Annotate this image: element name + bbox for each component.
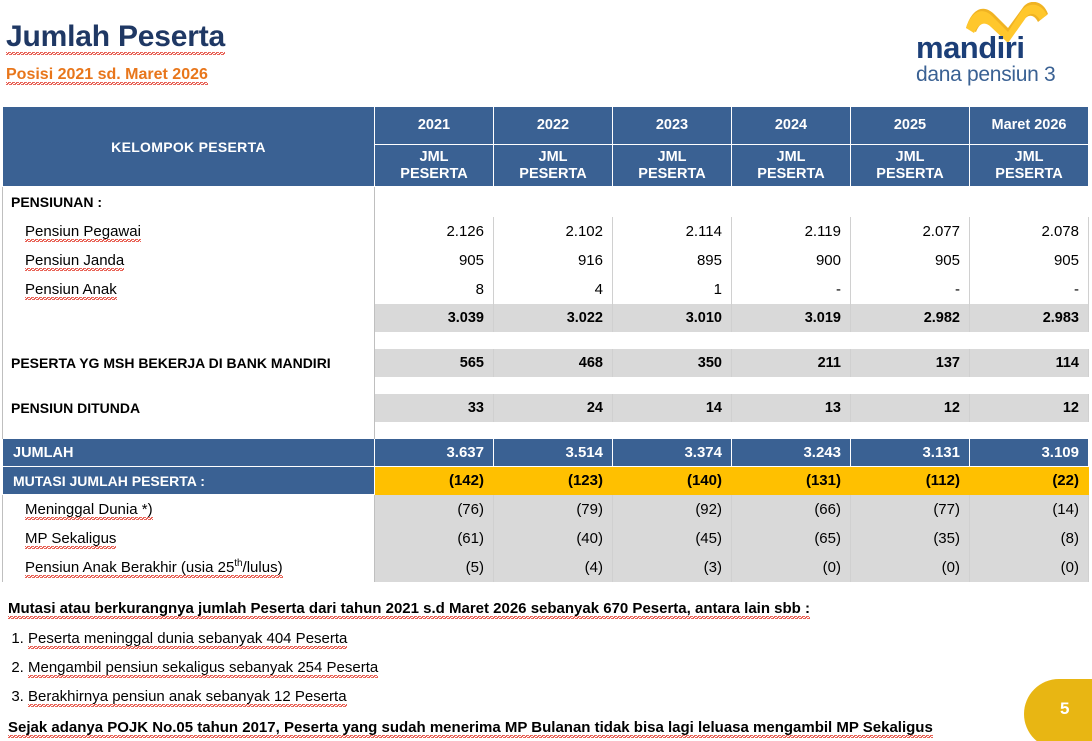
row-label-mp-sekaligus: MP Sekaligus bbox=[3, 524, 375, 553]
label-part-post: /lulus) bbox=[243, 559, 283, 576]
cell: 2.078 bbox=[970, 217, 1089, 246]
cell bbox=[375, 422, 494, 439]
sub-header-2023: JML PESERTA bbox=[613, 145, 732, 187]
list-item: Berakhirnya pensiun anak sebanyak 12 Pes… bbox=[28, 688, 1008, 705]
table-row: Pensiun Janda 905 916 895 900 905 905 bbox=[3, 246, 1089, 275]
cell: 8 bbox=[375, 275, 494, 304]
cell bbox=[970, 377, 1089, 394]
table-row: Pensiun Pegawai 2.126 2.102 2.114 2.119 … bbox=[3, 217, 1089, 246]
sub-header-2025: JML PESERTA bbox=[851, 145, 970, 187]
cell bbox=[970, 422, 1089, 439]
cell: 114 bbox=[970, 349, 1089, 377]
cell: 3.022 bbox=[494, 304, 613, 332]
cell: 3.514 bbox=[494, 439, 613, 467]
cell bbox=[851, 422, 970, 439]
notes-list: Peserta meninggal dunia sebanyak 404 Pes… bbox=[8, 630, 1008, 705]
cell bbox=[851, 377, 970, 394]
page-subtitle: Posisi 2021 sd. Maret 2026 bbox=[6, 66, 208, 84]
cell: 12 bbox=[970, 394, 1089, 422]
page-subtitle-text: Posisi 2021 sd. Maret 2026 bbox=[6, 66, 208, 85]
cell: 565 bbox=[375, 349, 494, 377]
row-label-pensiunan: PENSIUNAN : bbox=[3, 187, 375, 217]
page-number: 5 bbox=[1060, 699, 1069, 719]
row-label-peserta-msh-bekerja: PESERTA YG MSH BEKERJA DI BANK MANDIRI bbox=[3, 349, 375, 377]
cell: - bbox=[970, 275, 1089, 304]
cell: (123) bbox=[494, 467, 613, 495]
row-label-jumlah: JUMLAH bbox=[3, 439, 375, 467]
table-row-subtotal-pensiunan: 3.039 3.022 3.010 3.019 2.982 2.983 bbox=[3, 304, 1089, 332]
col-header-2025: 2025 bbox=[851, 107, 970, 145]
page-title-text: Jumlah Peserta bbox=[6, 20, 225, 55]
sub-header-2021: JML PESERTA bbox=[375, 145, 494, 187]
cell: 2.114 bbox=[613, 217, 732, 246]
table-header-row-years: KELOMPOK PESERTA 2021 2022 2023 2024 202… bbox=[3, 107, 1089, 145]
cell: 3.039 bbox=[375, 304, 494, 332]
cell: 137 bbox=[851, 349, 970, 377]
mandiri-logo: mandiri dana pensiun 3 bbox=[908, 2, 1084, 86]
row-label-pensiun-anak-berakhir: Pensiun Anak Berakhir (usia 25th/lulus) bbox=[3, 553, 375, 582]
cell: 211 bbox=[732, 349, 851, 377]
col-header-kelompok-peserta: KELOMPOK PESERTA bbox=[3, 107, 375, 187]
cell: (40) bbox=[494, 524, 613, 553]
table-row-spacer bbox=[3, 422, 1089, 439]
cell: (142) bbox=[375, 467, 494, 495]
cell bbox=[732, 332, 851, 349]
cell: 2.102 bbox=[494, 217, 613, 246]
cell: 468 bbox=[494, 349, 613, 377]
table-row: PENSIUNAN : bbox=[3, 187, 1089, 217]
table-row-pensiun-anak-berakhir: Pensiun Anak Berakhir (usia 25th/lulus) … bbox=[3, 553, 1089, 582]
list-item: Peserta meninggal dunia sebanyak 404 Pes… bbox=[28, 630, 1008, 647]
cell: - bbox=[851, 275, 970, 304]
cell: 905 bbox=[851, 246, 970, 275]
page-number-badge: 5 bbox=[1020, 679, 1092, 741]
cell bbox=[851, 332, 970, 349]
row-label-pensiun-anak: Pensiun Anak bbox=[3, 275, 375, 304]
cell bbox=[375, 377, 494, 394]
col-header-2022: 2022 bbox=[494, 107, 613, 145]
cell bbox=[494, 422, 613, 439]
cell: 4 bbox=[494, 275, 613, 304]
row-label-mutasi: MUTASI JUMLAH PESERTA : bbox=[3, 467, 375, 495]
table-head: KELOMPOK PESERTA 2021 2022 2023 2024 202… bbox=[3, 107, 1089, 187]
cell: 900 bbox=[732, 246, 851, 275]
cell: 905 bbox=[970, 246, 1089, 275]
cell: (66) bbox=[732, 495, 851, 524]
row-label-empty bbox=[3, 377, 375, 394]
table-row-spacer bbox=[3, 332, 1089, 349]
row-label-pensiun-pegawai: Pensiun Pegawai bbox=[3, 217, 375, 246]
cell: 2.077 bbox=[851, 217, 970, 246]
cell: 24 bbox=[494, 394, 613, 422]
cell: 895 bbox=[613, 246, 732, 275]
cell: (0) bbox=[970, 553, 1089, 582]
cell: (45) bbox=[613, 524, 732, 553]
cell: 3.243 bbox=[732, 439, 851, 467]
cell: 3.019 bbox=[732, 304, 851, 332]
col-header-2024: 2024 bbox=[732, 107, 851, 145]
cell bbox=[494, 332, 613, 349]
cell: 2.126 bbox=[375, 217, 494, 246]
row-label-meninggal-dunia: Meninggal Dunia *) bbox=[3, 495, 375, 524]
cell bbox=[375, 332, 494, 349]
cell bbox=[613, 187, 732, 217]
cell: (5) bbox=[375, 553, 494, 582]
cell: 2.119 bbox=[732, 217, 851, 246]
col-header-2023: 2023 bbox=[613, 107, 732, 145]
cell: 33 bbox=[375, 394, 494, 422]
cell bbox=[732, 187, 851, 217]
page-title: Jumlah Peserta bbox=[6, 20, 225, 54]
cell: (112) bbox=[851, 467, 970, 495]
table-row-meninggal-dunia: Meninggal Dunia *) (76) (79) (92) (66) (… bbox=[3, 495, 1089, 524]
cell: (77) bbox=[851, 495, 970, 524]
sub-header-maret-2026: JML PESERTA bbox=[970, 145, 1089, 187]
sub-header-line2: PESERTA bbox=[400, 166, 467, 182]
label-part-superscript: th bbox=[234, 558, 242, 569]
list-item: Mengambil pensiun sekaligus sebanyak 254… bbox=[28, 659, 1008, 676]
row-label-empty bbox=[3, 332, 375, 349]
cell: 14 bbox=[613, 394, 732, 422]
cell: 3.109 bbox=[970, 439, 1089, 467]
col-header-maret-2026: Maret 2026 bbox=[970, 107, 1089, 145]
footer-notes: Mutasi atau berkurangnya jumlah Peserta … bbox=[8, 600, 1008, 736]
logo-wordmark: mandiri bbox=[916, 30, 1024, 65]
cell: 905 bbox=[375, 246, 494, 275]
cell: (35) bbox=[851, 524, 970, 553]
notes-lead: Mutasi atau berkurangnya jumlah Peserta … bbox=[8, 600, 1008, 617]
table-row-peserta-bekerja: PESERTA YG MSH BEKERJA DI BANK MANDIRI 5… bbox=[3, 349, 1089, 377]
sub-header-line1: JML bbox=[420, 149, 449, 165]
table-row: Pensiun Anak 8 4 1 - - - bbox=[3, 275, 1089, 304]
cell: 3.010 bbox=[613, 304, 732, 332]
col-header-2021: 2021 bbox=[375, 107, 494, 145]
cell bbox=[375, 187, 494, 217]
label-part-pre: Pensiun Anak Berakhir (usia 25 bbox=[25, 559, 234, 576]
table-body: PENSIUNAN : Pensiun Pegawai 2.126 2.102 … bbox=[3, 187, 1089, 582]
cell: (76) bbox=[375, 495, 494, 524]
cell: (0) bbox=[732, 553, 851, 582]
cell bbox=[494, 187, 613, 217]
cell: (0) bbox=[851, 553, 970, 582]
table-row-jumlah: JUMLAH 3.637 3.514 3.374 3.243 3.131 3.1… bbox=[3, 439, 1089, 467]
row-label-pensiun-ditunda: PENSIUN DITUNDA bbox=[3, 394, 375, 422]
cell: (61) bbox=[375, 524, 494, 553]
cell: (8) bbox=[970, 524, 1089, 553]
cell: 2.982 bbox=[851, 304, 970, 332]
table-row-mutasi: MUTASI JUMLAH PESERTA : (142) (123) (140… bbox=[3, 467, 1089, 495]
cell bbox=[613, 422, 732, 439]
logo-subbrand: dana pensiun 3 bbox=[916, 63, 1055, 86]
cell: 12 bbox=[851, 394, 970, 422]
cell bbox=[613, 332, 732, 349]
cell: 2.983 bbox=[970, 304, 1089, 332]
participants-table: KELOMPOK PESERTA 2021 2022 2023 2024 202… bbox=[2, 106, 1089, 582]
cell: 13 bbox=[732, 394, 851, 422]
cell: (140) bbox=[613, 467, 732, 495]
table-row-mp-sekaligus: MP Sekaligus (61) (40) (45) (65) (35) (8… bbox=[3, 524, 1089, 553]
cell: (92) bbox=[613, 495, 732, 524]
cell bbox=[732, 422, 851, 439]
cell: 3.637 bbox=[375, 439, 494, 467]
cell: - bbox=[732, 275, 851, 304]
cell: 3.374 bbox=[613, 439, 732, 467]
row-label-empty bbox=[3, 304, 375, 332]
cell: (22) bbox=[970, 467, 1089, 495]
table-row-pensiun-ditunda: PENSIUN DITUNDA 33 24 14 13 12 12 bbox=[3, 394, 1089, 422]
cell bbox=[732, 377, 851, 394]
cell: (4) bbox=[494, 553, 613, 582]
cell bbox=[970, 332, 1089, 349]
cell: 3.131 bbox=[851, 439, 970, 467]
cell: 916 bbox=[494, 246, 613, 275]
cell: (65) bbox=[732, 524, 851, 553]
cell: (14) bbox=[970, 495, 1089, 524]
notes-closing: Sejak adanya POJK No.05 tahun 2017, Pese… bbox=[8, 719, 1008, 736]
cell: 350 bbox=[613, 349, 732, 377]
cell: (3) bbox=[613, 553, 732, 582]
cell: 1 bbox=[613, 275, 732, 304]
cell bbox=[613, 377, 732, 394]
participants-table-wrapper: KELOMPOK PESERTA 2021 2022 2023 2024 202… bbox=[2, 106, 1088, 582]
cell: (79) bbox=[494, 495, 613, 524]
sub-header-2024: JML PESERTA bbox=[732, 145, 851, 187]
cell: (131) bbox=[732, 467, 851, 495]
row-label-pensiun-janda: Pensiun Janda bbox=[3, 246, 375, 275]
cell bbox=[851, 187, 970, 217]
slide-root: Jumlah Peserta Posisi 2021 sd. Maret 202… bbox=[0, 0, 1092, 741]
cell bbox=[494, 377, 613, 394]
cell bbox=[970, 187, 1089, 217]
badge-shape bbox=[1024, 679, 1092, 741]
row-label-empty bbox=[3, 422, 375, 439]
table-row-spacer bbox=[3, 377, 1089, 394]
sub-header-2022: JML PESERTA bbox=[494, 145, 613, 187]
